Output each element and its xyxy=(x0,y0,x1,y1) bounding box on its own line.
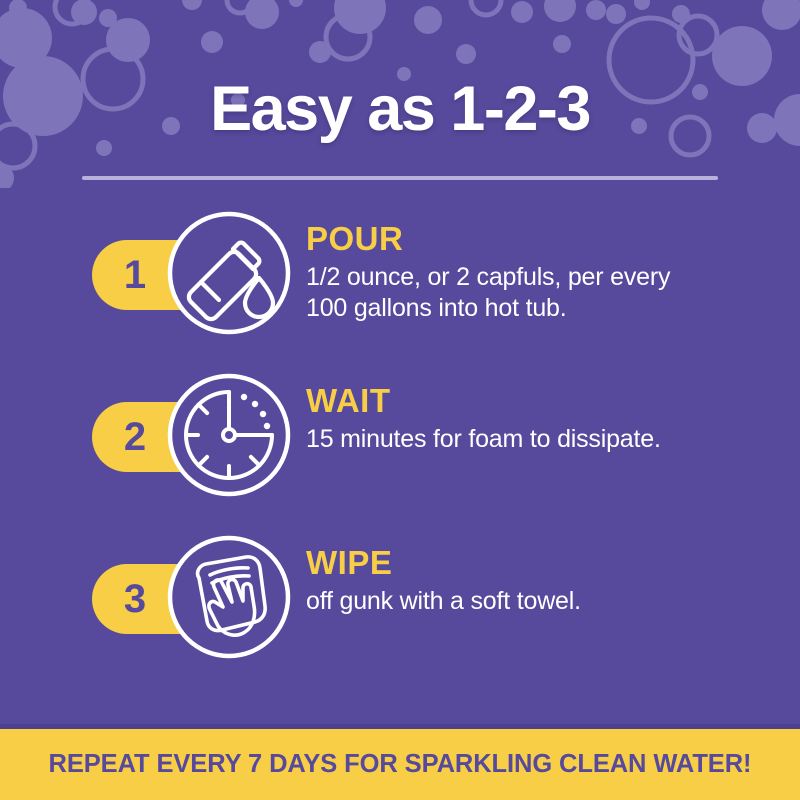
step-2-desc-line1: 15 minutes for foam to dissipate. xyxy=(306,425,661,453)
step-3-title: WIPE xyxy=(306,546,776,581)
page-title: Easy as 1-2-3 xyxy=(0,78,800,141)
step-3-text: WIPE off gunk with a soft towel. xyxy=(306,546,776,617)
step-1-desc-line1: 1/2 ounce, or 2 capfuls, per every xyxy=(306,263,670,291)
step-1-text: POUR 1/2 ounce, or 2 capfuls, per every … xyxy=(306,222,776,325)
title-divider xyxy=(82,176,718,180)
step-3-wipe: 3 WIPE off gunk with a soft towel. xyxy=(0,534,800,664)
step-2-wait: 2 xyxy=(0,372,800,502)
step-1-description: 1/2 ounce, or 2 capfuls, per every 100 g… xyxy=(306,262,776,325)
clock-icon xyxy=(166,372,292,498)
step-1-title: POUR xyxy=(306,222,776,257)
step-1-desc-line2: 100 gallons into hot tub. xyxy=(306,293,776,325)
step-2-text: WAIT 15 minutes for foam to dissipate. xyxy=(306,384,776,455)
step-1-pour: 1 POUR 1/2 ounce, or 2 capfuls, per ever… xyxy=(0,210,800,340)
bottle-pour-icon xyxy=(166,210,292,336)
hand-wiping-cloth-icon xyxy=(166,534,292,660)
step-3-description: off gunk with a soft towel. xyxy=(306,586,776,618)
step-2-description: 15 minutes for foam to dissipate. xyxy=(306,424,776,456)
footer-banner: REPEAT EVERY 7 DAYS FOR SPARKLING CLEAN … xyxy=(0,729,800,800)
step-2-title: WAIT xyxy=(306,384,776,419)
step-3-desc-line1: off gunk with a soft towel. xyxy=(306,587,581,615)
footer-text: REPEAT EVERY 7 DAYS FOR SPARKLING CLEAN … xyxy=(49,750,752,779)
